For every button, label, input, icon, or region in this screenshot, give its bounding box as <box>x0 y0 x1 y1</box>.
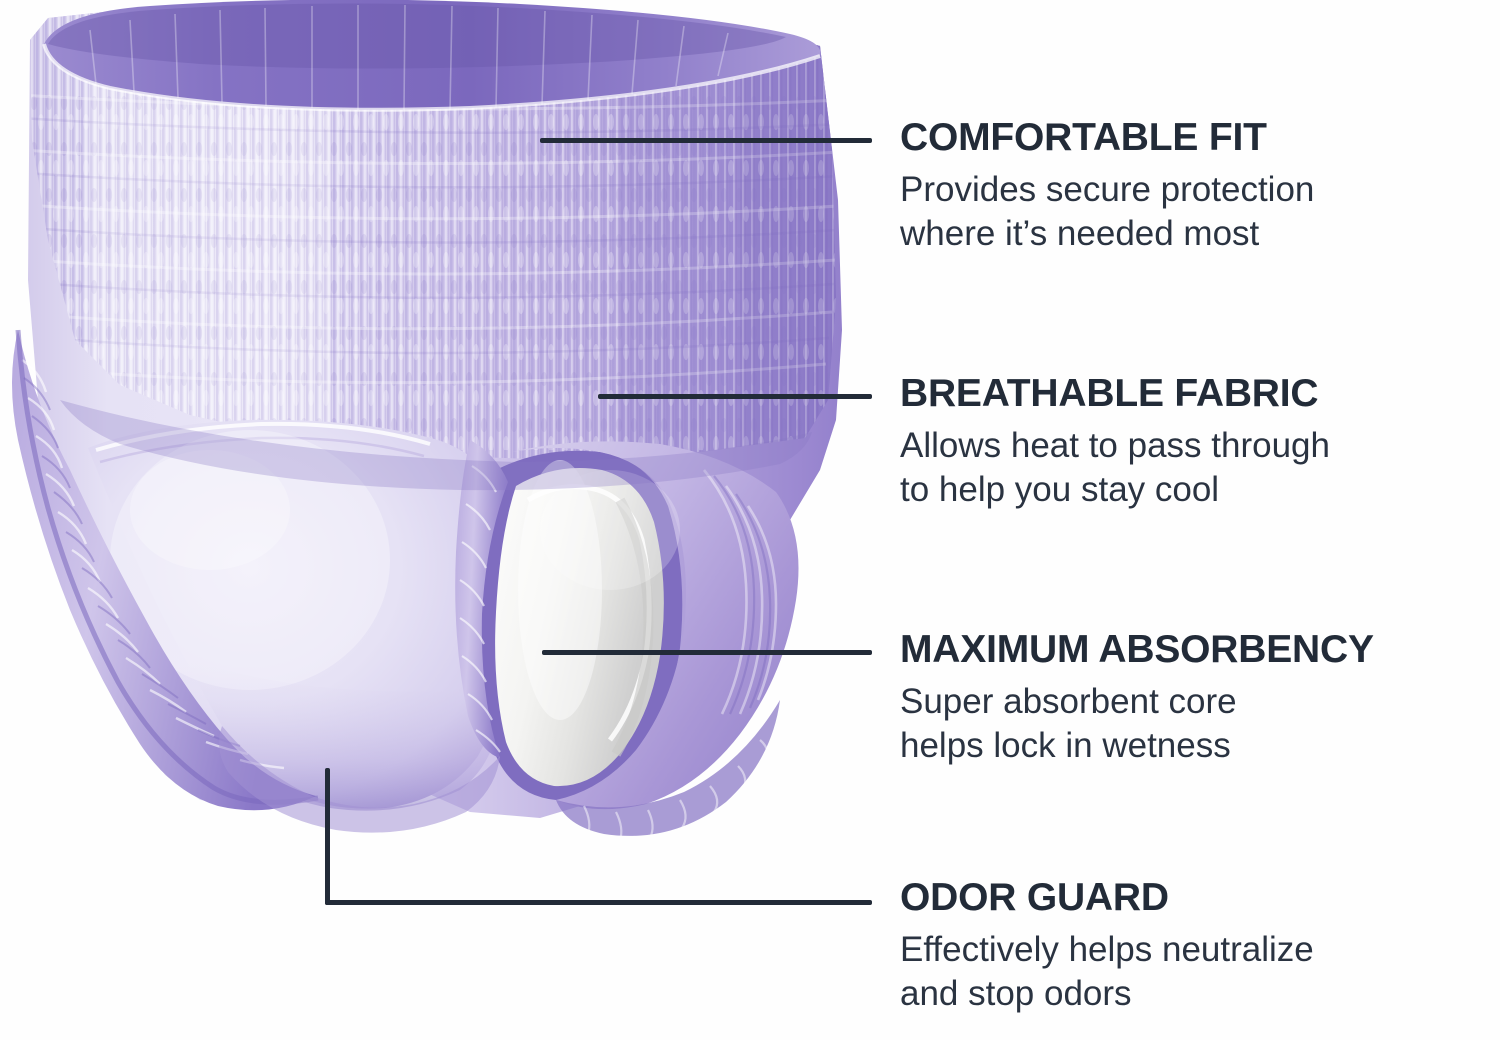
callout-title-comfortable-fit: COMFORTABLE FIT <box>900 116 1480 160</box>
callout-body-line: Allows heat to pass through <box>900 424 1480 468</box>
callout-title-odor-guard: ODOR GUARD <box>900 876 1480 920</box>
callout-body-breathable-fabric: Allows heat to pass through to help you … <box>900 424 1480 512</box>
callout-comfortable-fit: COMFORTABLE FIT Provides secure protecti… <box>900 116 1480 256</box>
leader-line-breathable-fabric <box>598 394 872 399</box>
callout-body-line: and stop odors <box>900 972 1480 1016</box>
infographic-canvas: COMFORTABLE FIT Provides secure protecti… <box>0 0 1500 1040</box>
callout-body-line: to help you stay cool <box>900 468 1480 512</box>
callout-body-comfortable-fit: Provides secure protection where it’s ne… <box>900 168 1480 256</box>
callout-breathable-fabric: BREATHABLE FABRIC Allows heat to pass th… <box>900 372 1480 512</box>
callout-title-breathable-fabric: BREATHABLE FABRIC <box>900 372 1480 416</box>
callout-body-line: helps lock in wetness <box>900 724 1480 768</box>
callout-body-line: where it’s needed most <box>900 212 1480 256</box>
leader-line-maximum-absorbency <box>542 650 872 655</box>
callout-body-line: Provides secure protection <box>900 168 1480 212</box>
callout-odor-guard: ODOR GUARD Effectively helps neutralize … <box>900 876 1480 1016</box>
leader-line-odor-guard-horizontal <box>325 900 872 905</box>
callout-body-maximum-absorbency: Super absorbent core helps lock in wetne… <box>900 680 1480 768</box>
callout-title-maximum-absorbency: MAXIMUM ABSORBENCY <box>900 628 1480 672</box>
leader-line-comfortable-fit <box>540 138 872 143</box>
callout-body-odor-guard: Effectively helps neutralize and stop od… <box>900 928 1480 1016</box>
callout-maximum-absorbency: MAXIMUM ABSORBENCY Super absorbent core … <box>900 628 1480 768</box>
leader-line-odor-guard-vertical <box>325 768 330 905</box>
callout-body-line: Super absorbent core <box>900 680 1480 724</box>
callout-body-line: Effectively helps neutralize <box>900 928 1480 972</box>
product-image <box>0 0 900 900</box>
